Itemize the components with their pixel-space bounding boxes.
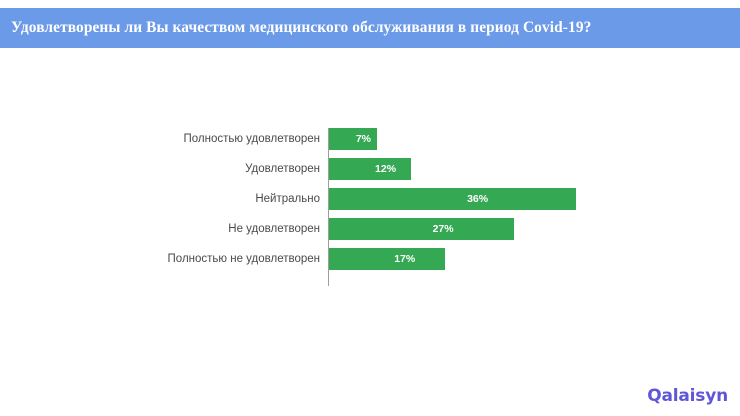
bar-category-label: Не удовлетворен <box>228 218 328 240</box>
bar-wrapper: 7% <box>329 128 377 150</box>
bar-chart-row: Удовлетворен12% <box>0 158 740 180</box>
bar[interactable]: 36% <box>329 188 576 210</box>
bar[interactable]: 7% <box>329 128 377 150</box>
bar-chart: Полностью удовлетворен7%Удовлетворен12%Н… <box>0 128 740 288</box>
bar-value-label: 12% <box>375 158 396 180</box>
bar-chart-row: Не удовлетворен27% <box>0 218 740 240</box>
bar-value-label: 17% <box>394 248 415 270</box>
slide: Удовлетворены ли Вы качеством медицинско… <box>0 0 740 416</box>
bar-chart-row: Полностью не удовлетворен17% <box>0 248 740 270</box>
bar-value-label: 7% <box>356 128 371 150</box>
page-title: Удовлетворены ли Вы качеством медицинско… <box>0 20 601 35</box>
bar-value-label: 27% <box>433 218 454 240</box>
bar-category-label: Полностью удовлетворен <box>183 128 328 150</box>
bar-wrapper: 36% <box>329 188 576 210</box>
bar-wrapper: 27% <box>329 218 514 240</box>
bar-chart-row: Нейтрально36% <box>0 188 740 210</box>
bar-category-label: Нейтрально <box>255 188 328 210</box>
bar-category-label: Полностью не удовлетворен <box>168 248 328 270</box>
bar-category-label: Удовлетворен <box>245 158 328 180</box>
bar-value-label: 36% <box>467 188 488 210</box>
bar[interactable]: 17% <box>329 248 445 270</box>
slide-header: Удовлетворены ли Вы качеством медицинско… <box>0 8 740 48</box>
bar-wrapper: 12% <box>329 158 411 180</box>
qalaisyn-logo: Qalaisyn <box>647 388 728 405</box>
bar-chart-rows: Полностью удовлетворен7%Удовлетворен12%Н… <box>0 128 740 278</box>
bar[interactable]: 12% <box>329 158 411 180</box>
bar-chart-row: Полностью удовлетворен7% <box>0 128 740 150</box>
bar[interactable]: 27% <box>329 218 514 240</box>
bar-wrapper: 17% <box>329 248 445 270</box>
